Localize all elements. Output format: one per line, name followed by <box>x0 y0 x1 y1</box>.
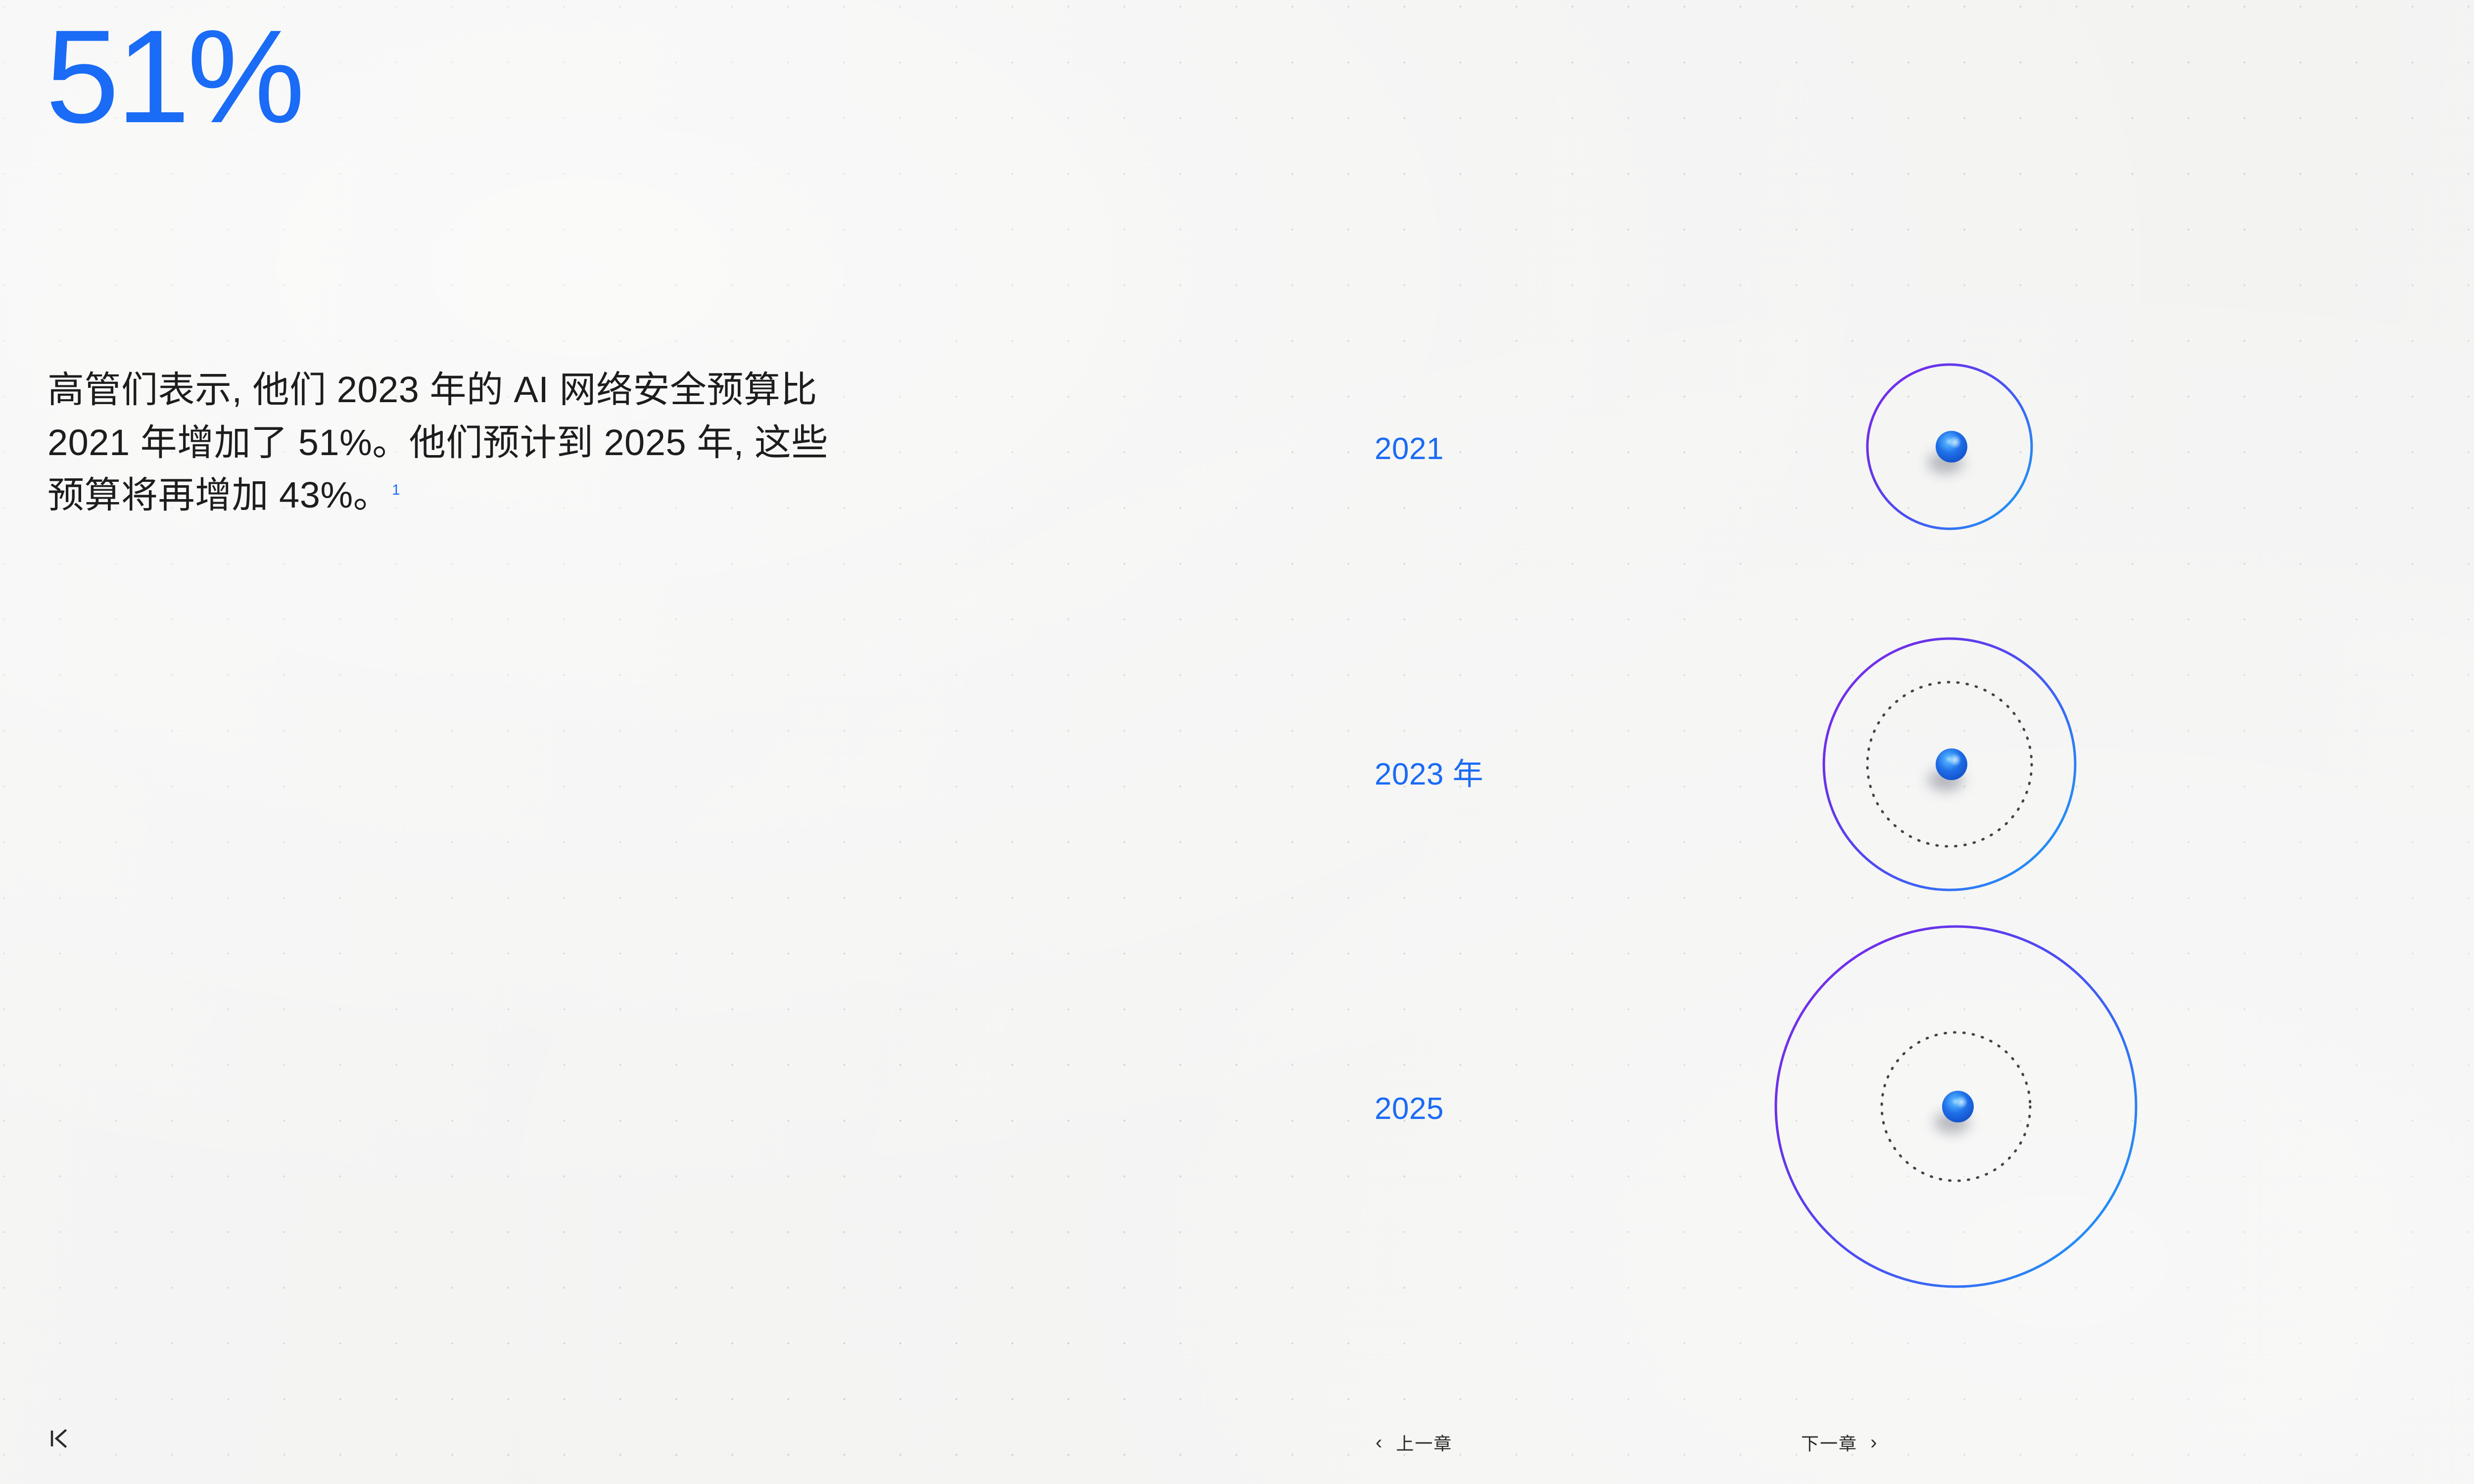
prev-chapter-label: 上一章 <box>1396 1430 1452 1455</box>
bubble-label-2023: 2023 年 <box>1375 749 1483 793</box>
footnote-marker: 1 <box>392 482 400 498</box>
bubble-group-2025 <box>1507 927 2136 1287</box>
slide-canvas: 51% 高管们表示, 他们 2023 年的 AI 网络安全预算比 2021 年增… <box>0 0 2474 1484</box>
budget-growth-bubble-chart: 2021 2023 年 2025 <box>1336 277 2227 1365</box>
next-chapter-button[interactable]: 下一章 › <box>1801 1430 1878 1455</box>
next-chapter-label: 下一章 <box>1801 1430 1857 1455</box>
bubble-label-2025: 2025 <box>1375 1091 1444 1126</box>
bubble-group-2023 <box>1507 639 2075 890</box>
slide-footer: ‹ 上一章 下一章 › 8 <box>0 1400 2474 1484</box>
chevron-right-icon: › <box>1870 1433 1878 1452</box>
body-paragraph-text: 高管们表示, 他们 2023 年的 AI 网络安全预算比 2021 年增加了 5… <box>48 369 828 515</box>
sphere-highlight-2021 <box>1949 436 1961 449</box>
bubble-label-2021: 2021 <box>1375 431 1444 466</box>
skip-to-start-icon[interactable] <box>46 1424 78 1453</box>
chevron-left-icon: ‹ <box>1376 1433 1383 1452</box>
page-headline-stat: 51% <box>46 10 302 142</box>
sphere-highlight-2025 <box>1955 1096 1968 1109</box>
body-paragraph: 高管们表示, 他们 2023 年的 AI 网络安全预算比 2021 年增加了 5… <box>48 364 844 522</box>
prev-chapter-button[interactable]: ‹ 上一章 <box>1376 1430 1465 1455</box>
sphere-highlight-2023 <box>1949 753 1961 766</box>
bubble-group-2021 <box>1507 365 2032 529</box>
